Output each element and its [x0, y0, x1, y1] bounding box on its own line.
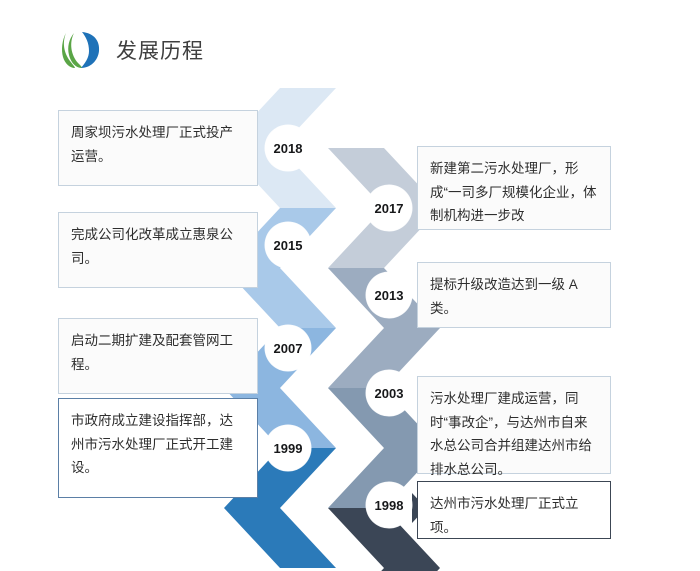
milestone-box-2015[interactable]: 完成公司化改革成立惠泉公司。: [58, 212, 258, 288]
year-node-2017[interactable]: 2017: [366, 185, 412, 231]
year-label: 2017: [375, 201, 404, 216]
year-node-1999[interactable]: 1999: [265, 425, 311, 471]
year-label: 2018: [274, 141, 303, 156]
milestone-box-2013[interactable]: 提标升级改造达到一级 A 类。: [417, 262, 611, 328]
year-label: 1998: [375, 498, 404, 513]
milestone-text: 提标升级改造达到一级 A 类。: [430, 273, 598, 320]
year-label: 2003: [375, 386, 404, 401]
milestone-box-1999[interactable]: 市政府成立建设指挥部，达州市污水处理厂正式开工建设。: [58, 398, 258, 498]
milestone-text: 新建第二污水处理厂，形成“一司多厂规模化企业，体制机构进一步改: [430, 157, 598, 228]
year-node-1998[interactable]: 1998: [366, 482, 412, 528]
year-label: 2015: [274, 238, 303, 253]
milestone-text: 完成公司化改革成立惠泉公司。: [71, 223, 245, 270]
milestone-text: 启动二期扩建及配套管网工程。: [71, 329, 245, 376]
milestone-box-2018[interactable]: 周家坝污水处理厂正式投产运营。: [58, 110, 258, 186]
page-title: 发展历程: [116, 35, 204, 65]
year-label: 1999: [274, 441, 303, 456]
milestone-text: 达州市污水处理厂正式立项。: [430, 492, 598, 539]
year-node-2003[interactable]: 2003: [366, 370, 412, 416]
year-label: 2007: [274, 341, 303, 356]
page-header: 发展历程: [58, 26, 204, 74]
milestone-box-1998[interactable]: 达州市污水处理厂正式立项。: [417, 481, 611, 539]
pointer-2007: [258, 373, 272, 403]
year-node-2007[interactable]: 2007: [265, 325, 311, 371]
milestone-text: 周家坝污水处理厂正式投产运营。: [71, 121, 245, 168]
milestone-text: 市政府成立建设指挥部，达州市污水处理厂正式开工建设。: [71, 409, 245, 480]
milestone-text: 污水处理厂建成运营，同时“事改企”，与达州市自来水总公司合并组建达州市给排水总公…: [430, 387, 598, 482]
year-node-2018[interactable]: 2018: [265, 125, 311, 171]
year-node-2015[interactable]: 2015: [265, 222, 311, 268]
milestone-box-2003[interactable]: 污水处理厂建成运营，同时“事改企”，与达州市自来水总公司合并组建达州市给排水总公…: [417, 376, 611, 474]
milestone-box-2007[interactable]: 启动二期扩建及配套管网工程。: [58, 318, 258, 394]
year-node-2013[interactable]: 2013: [366, 272, 412, 318]
wave-logo-icon: [58, 27, 104, 73]
pointer-1999: [258, 493, 272, 523]
year-label: 2013: [375, 288, 404, 303]
milestone-box-2017[interactable]: 新建第二污水处理厂，形成“一司多厂规模化企业，体制机构进一步改: [417, 146, 611, 230]
